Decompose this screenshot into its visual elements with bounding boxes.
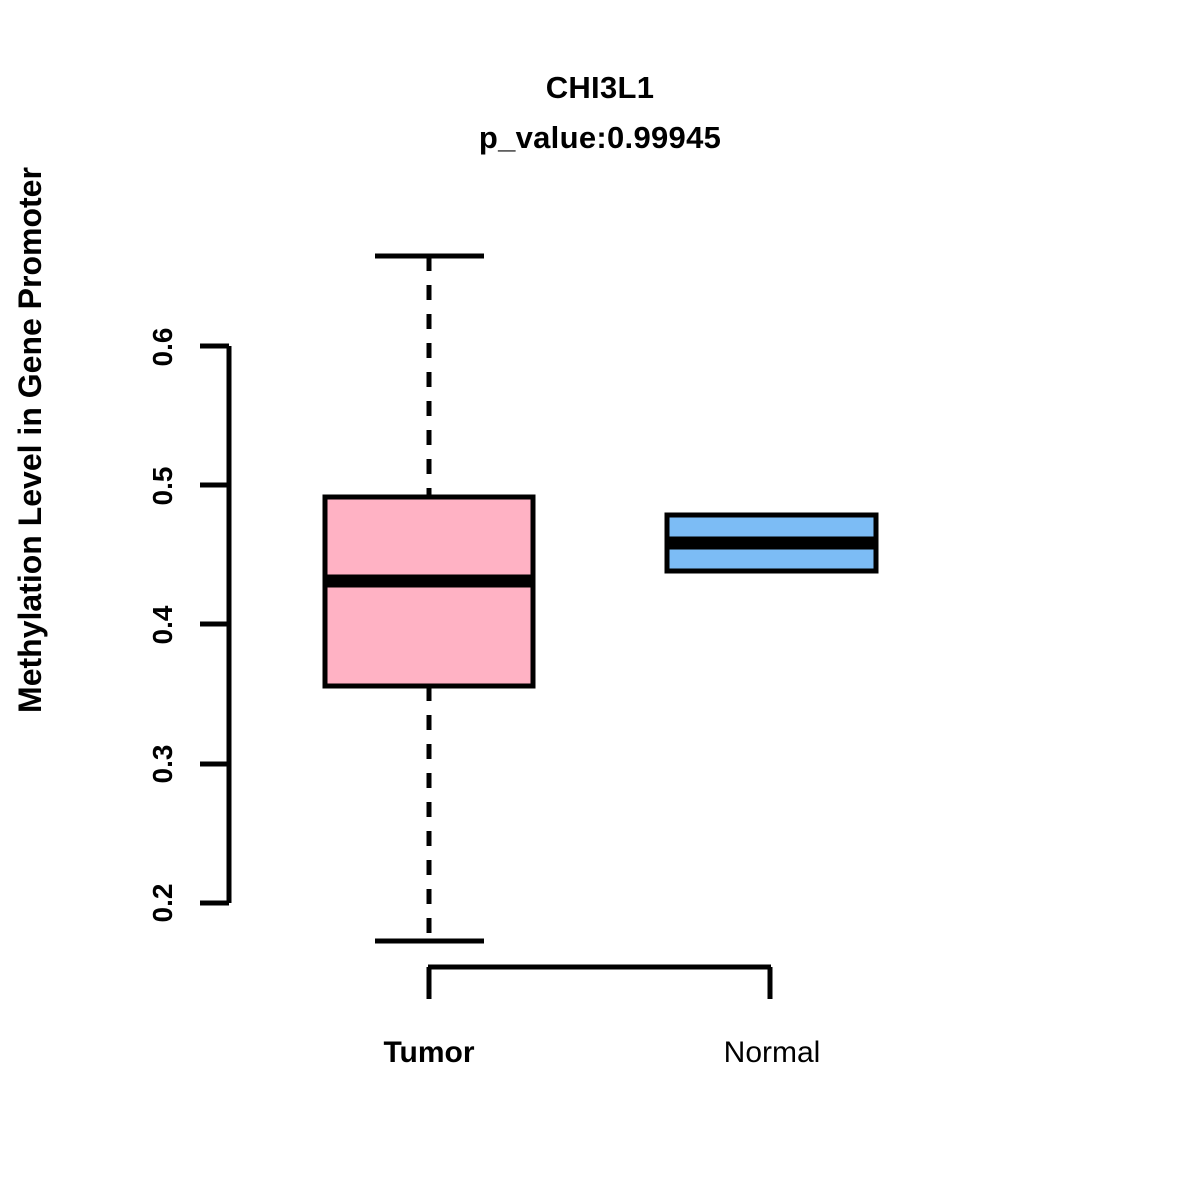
y-axis xyxy=(200,346,229,903)
boxplot-figure: CHI3L1 p_value:0.99945 Methylation Level… xyxy=(0,0,1200,1200)
plot-area xyxy=(0,0,1200,1200)
box-tumor xyxy=(325,256,533,941)
box-normal xyxy=(667,515,876,571)
x-axis xyxy=(428,967,771,999)
box-rect-tumor xyxy=(325,497,533,686)
